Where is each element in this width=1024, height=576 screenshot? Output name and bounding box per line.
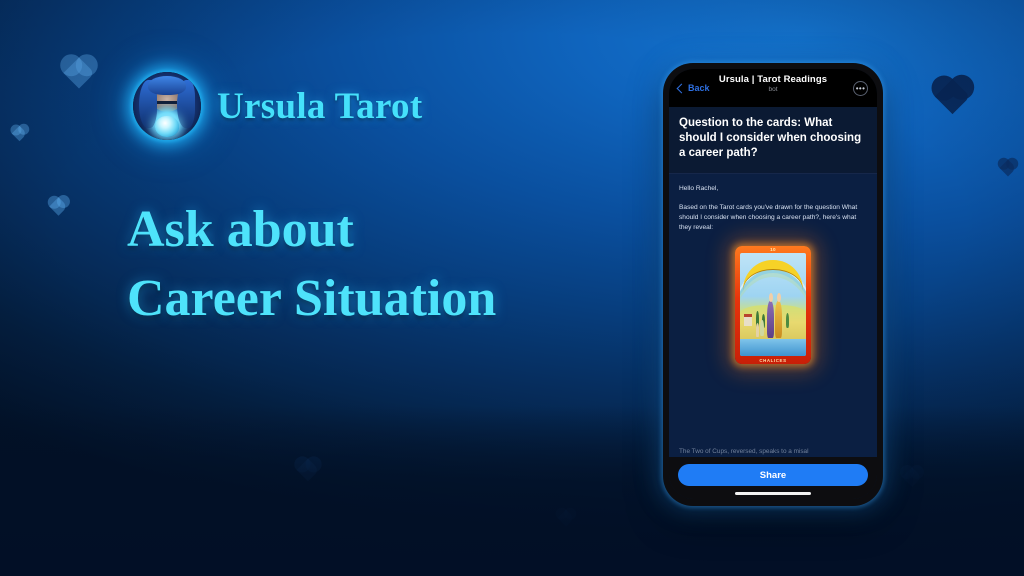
- heart-icon: [940, 84, 965, 109]
- adult-figure: [767, 301, 774, 338]
- cut-off-text: The Two of Cups, reversed, speaks to a m…: [679, 447, 867, 455]
- heart-shape: [12, 126, 28, 142]
- phone-screen: Back Ursula | Tarot Readings bot ••• Que…: [669, 69, 877, 499]
- tarot-card-suit: CHALICES: [735, 358, 811, 363]
- reading-body[interactable]: Hello Rachel, Based on the Tarot cards y…: [669, 174, 877, 457]
- intro-text: Based on the Tarot cards you've drawn fo…: [679, 203, 867, 234]
- headline-line-2: Career Situation: [127, 265, 597, 334]
- brand-name: Ursula Tarot: [217, 85, 422, 128]
- avatar-eyes: [157, 101, 177, 104]
- back-button[interactable]: Back: [678, 83, 710, 93]
- cups-arc-shape: [743, 260, 804, 291]
- house-shape: [744, 314, 752, 325]
- share-button[interactable]: Share: [678, 464, 868, 486]
- heart-shape: [935, 79, 970, 114]
- heart-icon: [68, 62, 90, 84]
- tarot-card-area: 10: [679, 246, 867, 364]
- avatar-hair-top: [148, 76, 186, 95]
- heart-icon: [300, 462, 316, 478]
- brand-lockup: Ursula Tarot: [133, 72, 422, 140]
- heart-shape: [297, 459, 320, 482]
- child-figure: [756, 323, 759, 336]
- crystal-ball-icon: [155, 116, 178, 136]
- home-indicator-bar: [735, 492, 811, 495]
- heart-icon: [560, 512, 572, 524]
- heart-icon: [52, 200, 65, 213]
- chevron-left-icon: [677, 83, 687, 93]
- phone-mockup: Back Ursula | Tarot Readings bot ••• Que…: [663, 63, 883, 506]
- app-navbar: Back Ursula | Tarot Readings bot •••: [669, 69, 877, 107]
- cut-off-line: The Two of Cups, reversed, speaks to a m…: [679, 447, 867, 455]
- heart-shape: [902, 467, 922, 487]
- back-button-label: Back: [688, 83, 710, 93]
- heart-icon: [14, 128, 25, 139]
- page-title: Ask about Career Situation: [127, 196, 597, 333]
- phone-footer: Share: [669, 457, 877, 499]
- heart-shape: [49, 197, 67, 215]
- heart-shape: [63, 57, 94, 88]
- more-options-icon[interactable]: •••: [853, 81, 868, 96]
- heart-shape: [558, 510, 575, 527]
- tarot-card[interactable]: 10: [735, 246, 811, 364]
- tarot-card-number: 10: [735, 247, 811, 252]
- heart-icon: [1002, 162, 1014, 174]
- heart-icon: [905, 470, 919, 484]
- heart-shape: [1000, 160, 1017, 177]
- headline-line-1: Ask about: [127, 201, 354, 258]
- greeting-text: Hello Rachel,: [679, 184, 867, 194]
- question-header: Question to the cards: What should I con…: [669, 107, 877, 174]
- poster-background: Ursula Tarot Ask about Career Situation …: [0, 0, 1024, 576]
- water-shape: [740, 339, 806, 357]
- avatar: [133, 72, 201, 140]
- tarot-card-artwork: [740, 253, 806, 356]
- adult-figure: [775, 301, 782, 338]
